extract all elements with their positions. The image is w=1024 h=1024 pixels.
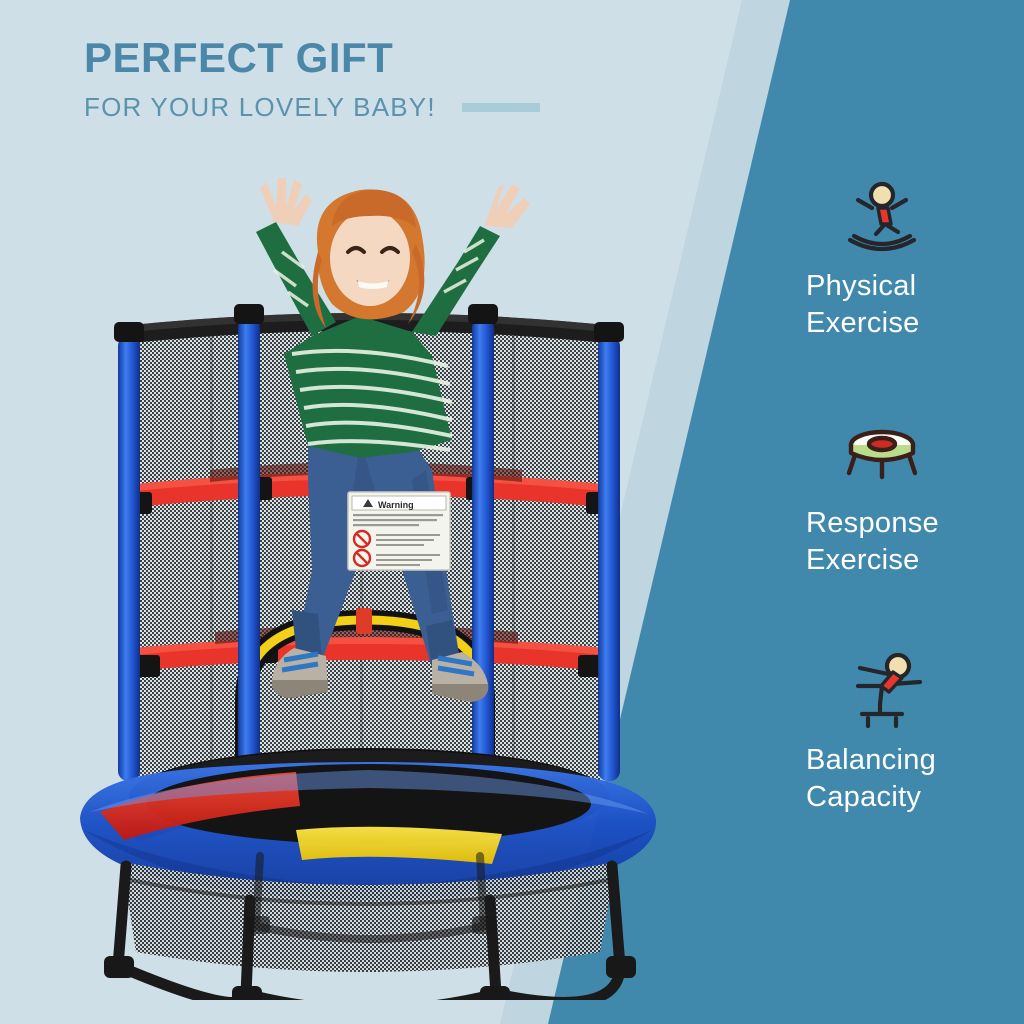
decorative-rule (462, 103, 540, 112)
mini-trampoline-icon (836, 415, 1016, 491)
subtitle-row: FOR YOUR LOVELY BABY! (84, 92, 684, 123)
feature-line-1: Response (806, 505, 1016, 542)
svg-text:Warning: Warning (378, 500, 414, 510)
feature-item-physical-exercise: Physical Exercise (806, 178, 1016, 341)
feature-line-2: Exercise (806, 542, 1016, 579)
feature-label-balancing-capacity: Balancing Capacity (806, 742, 1016, 815)
feature-line-2: Exercise (806, 305, 1016, 342)
feature-line-2: Capacity (806, 779, 1016, 816)
page-title: PERFECT GIFT (84, 36, 684, 80)
feature-line-1: Balancing (806, 742, 1016, 779)
product-marketing-banner: PERFECT GIFT FOR YOUR LOVELY BABY! (0, 0, 1024, 1024)
warning-label: Warning (348, 492, 450, 570)
zipper-pull (356, 608, 372, 634)
balance-beam-person-icon (836, 652, 1016, 728)
feature-line-1: Physical (806, 268, 1016, 305)
product-image-trampoline: Warning (60, 140, 680, 1000)
feature-label-physical-exercise: Physical Exercise (806, 268, 1016, 341)
headline-block: PERFECT GIFT FOR YOUR LOVELY BABY! (84, 36, 684, 123)
feature-item-balancing-capacity: Balancing Capacity (806, 652, 1016, 815)
child-head (313, 189, 425, 328)
feature-label-response-exercise: Response Exercise (806, 505, 1016, 578)
feature-list: Physical Exercise Response (806, 178, 1016, 815)
feature-item-response-exercise: Response Exercise (806, 415, 1016, 578)
page-subtitle: FOR YOUR LOVELY BABY! (84, 92, 436, 123)
bouncing-person-icon (836, 178, 1016, 254)
